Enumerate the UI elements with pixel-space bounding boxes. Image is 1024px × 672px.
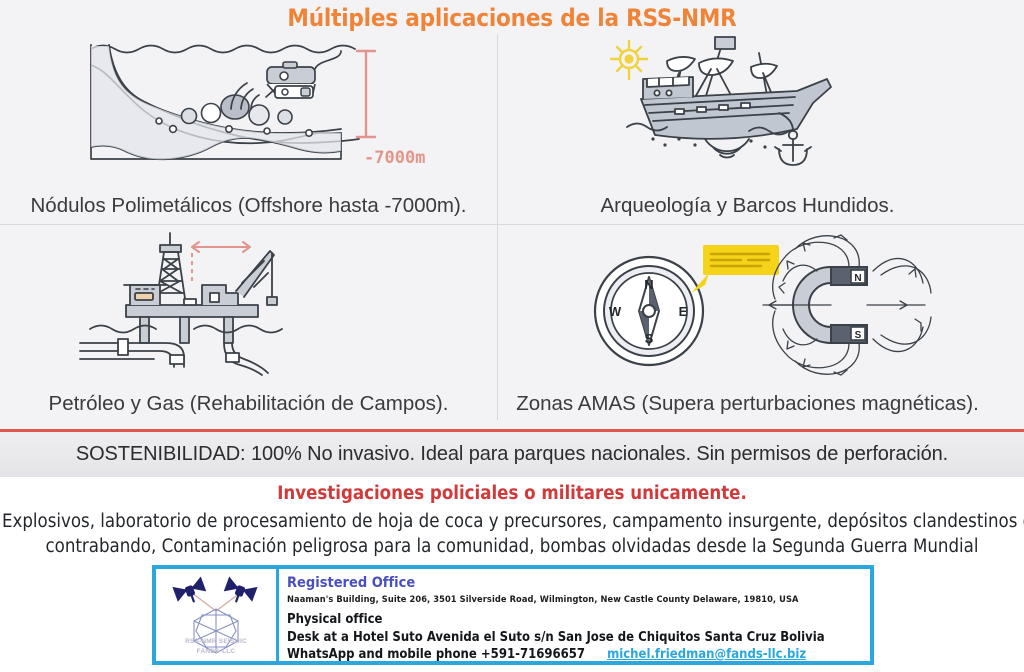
logo-text-line-2: FANDS-LLC: [170, 648, 262, 655]
cell-caption-nodulos: Nódulos Polimetálicos (Offshore hasta -7…: [0, 194, 497, 218]
magnet-pole-s: S: [854, 330, 861, 341]
physical-office-block: Physical office Desk at a Hotel Suto Ave…: [287, 611, 870, 664]
compass-mark-s: S: [644, 331, 653, 346]
callout-tooltip-icon: [691, 245, 779, 293]
sustainability-banner: SOSTENIBILIDAD: 100% No invasivo. Ideal …: [0, 429, 1024, 477]
email-link[interactable]: michel.friedman@fands-llc.biz: [607, 647, 806, 662]
compass-mark-w: W: [608, 304, 621, 319]
cell-arqueologia: Arqueología y Barcos Hundidos.: [499, 34, 996, 224]
physical-office-address: Desk at a Hotel Suto Avenida el Suto s/n…: [287, 629, 870, 647]
applications-grid: Nódulos Polimetálicos (Offshore hasta -7…: [0, 34, 1024, 420]
cell-caption-amas: Zonas AMAS (Supera perturbaciones magnét…: [499, 392, 996, 416]
company-logo: RSS-NMR SEISMIC FANDS-LLC: [156, 569, 279, 661]
cell-nodulos-polimetalicos: Nódulos Polimetálicos (Offshore hasta -7…: [0, 34, 497, 224]
registered-office-address: Naaman's Building, Suite 206, 3501 Silve…: [287, 593, 870, 606]
magnetic-field-lines: [763, 235, 931, 375]
notice-line-2: contrabando, Contaminación peligrosa par…: [2, 534, 1022, 559]
page-title: Múltiples aplicaciones de la RSS-NMR: [0, 4, 1024, 32]
cell-zonas-amas: N E S W: [499, 226, 996, 420]
sun-star-icon: [611, 41, 647, 79]
distance-arrow-icon: [192, 242, 250, 252]
sustainability-text: SOSTENIBILIDAD: 100% No invasivo. Ideal …: [0, 443, 1024, 466]
cell-caption-petroleo: Petróleo y Gas (Rehabilitación de Campos…: [0, 392, 497, 416]
grid-vertical-divider: [497, 34, 498, 420]
compass-mark-n: N: [644, 277, 653, 292]
notice-heading: Investigaciones policiales o militares u…: [0, 483, 1024, 504]
contact-phone-row: WhatsApp and mobile phone +591-71696657m…: [287, 646, 870, 664]
contact-details: Registered Office Naaman's Building, Sui…: [279, 569, 870, 661]
compass-icon: N E S W: [595, 257, 703, 365]
oil-rig-icon: [0, 226, 497, 372]
contact-card: RSS-NMR SEISMIC FANDS-LLC Registered Off…: [152, 565, 874, 665]
notice-line-1: Explosivos, laboratorio de procesamiento…: [2, 509, 1022, 534]
registered-office-title: Registered Office: [287, 575, 870, 592]
cell-petroleo-gas: Petróleo y Gas (Rehabilitación de Campos…: [0, 226, 497, 420]
logo-text-line-1: RSS-NMR SEISMIC: [170, 638, 262, 645]
notice-paragraph: Explosivos, laboratorio de procesamiento…: [2, 509, 1022, 559]
phone-text: WhatsApp and mobile phone +591-71696657: [287, 647, 585, 662]
physical-office-title: Physical office: [287, 611, 870, 629]
depth-label: -7000m: [364, 148, 425, 168]
slide-root: Múltiples aplicaciones de la RSS-NMR: [0, 0, 1024, 672]
satellite-polyhedron-logo-icon: [170, 571, 262, 659]
grid-horizontal-divider: [0, 224, 1024, 225]
compass-magnet-icon: N E S W: [499, 226, 996, 372]
cell-caption-arqueologia: Arqueología y Barcos Hundidos.: [499, 194, 996, 218]
magnet-pole-n: N: [854, 273, 861, 284]
compass-mark-e: E: [678, 304, 687, 319]
sunken-ship-icon: [499, 34, 996, 176]
